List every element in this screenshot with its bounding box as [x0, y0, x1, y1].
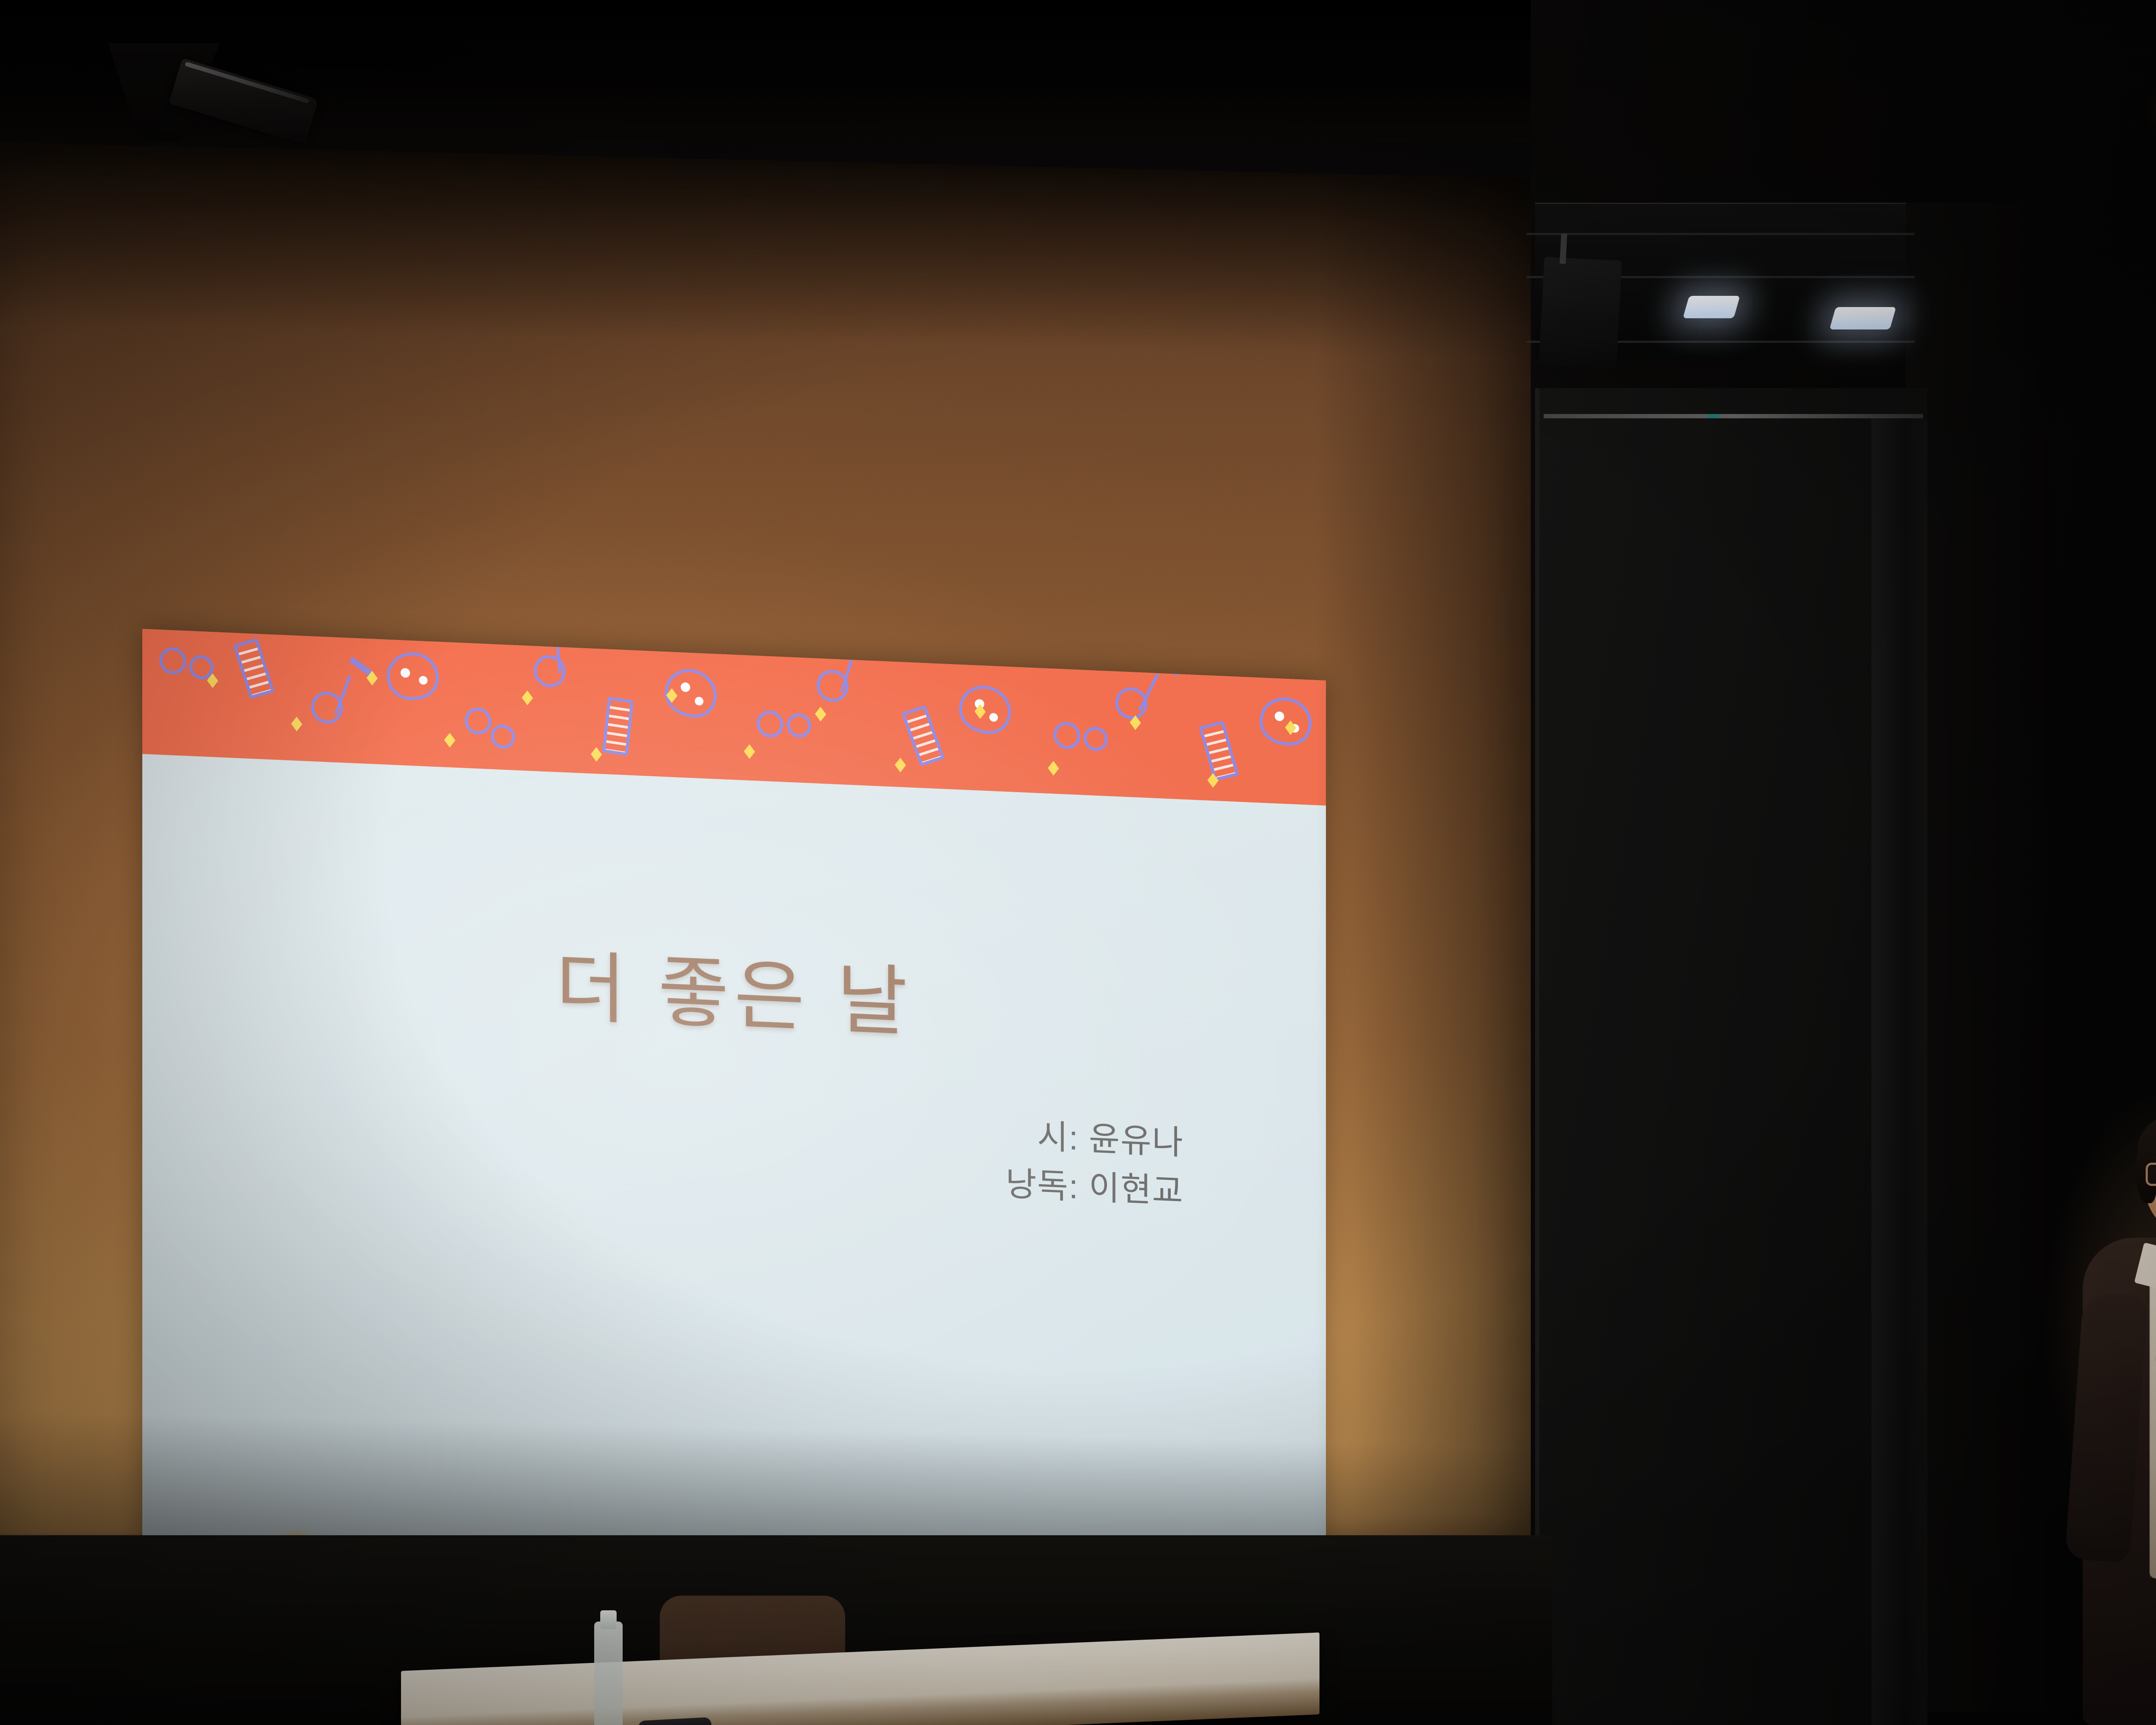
moving-head-light-icon	[1539, 257, 1622, 368]
stage-spotlight-icon	[1683, 296, 1740, 318]
auditorium-scene: 더 좋은 날 시: 윤유나 낭독: 이현교 학교법인 연암학원 안양예술고등학교…	[0, 0, 2156, 1725]
screen-right-shading	[1315, 173, 1531, 1602]
stage-door-frame	[1535, 388, 1927, 1725]
screen-top-shading	[0, 142, 1531, 360]
metal-rail	[1544, 414, 1923, 418]
side-curtain	[1871, 418, 1927, 1725]
projection-screen: 더 좋은 날 시: 윤유나 낭독: 이현교 학교법인 연암학원 안양예술고등학교…	[0, 142, 1531, 1602]
water-bottle	[594, 1621, 623, 1725]
eyeglasses-icon	[2146, 1163, 2156, 1188]
credit-poem: 시: 윤유나	[1006, 1111, 1184, 1167]
credit-recitation: 낭독: 이현교	[1006, 1160, 1184, 1216]
slide-credits: 시: 윤유나 낭독: 이현교	[1006, 1111, 1184, 1216]
bottle-cap	[600, 1610, 617, 1629]
slide-title: 더 좋은 날	[142, 931, 1326, 1059]
stage-spotlight-icon	[1830, 307, 1896, 329]
truss-rail	[1526, 233, 1915, 235]
performer	[2065, 1108, 2156, 1725]
performer-shirt	[2150, 1251, 2156, 1578]
